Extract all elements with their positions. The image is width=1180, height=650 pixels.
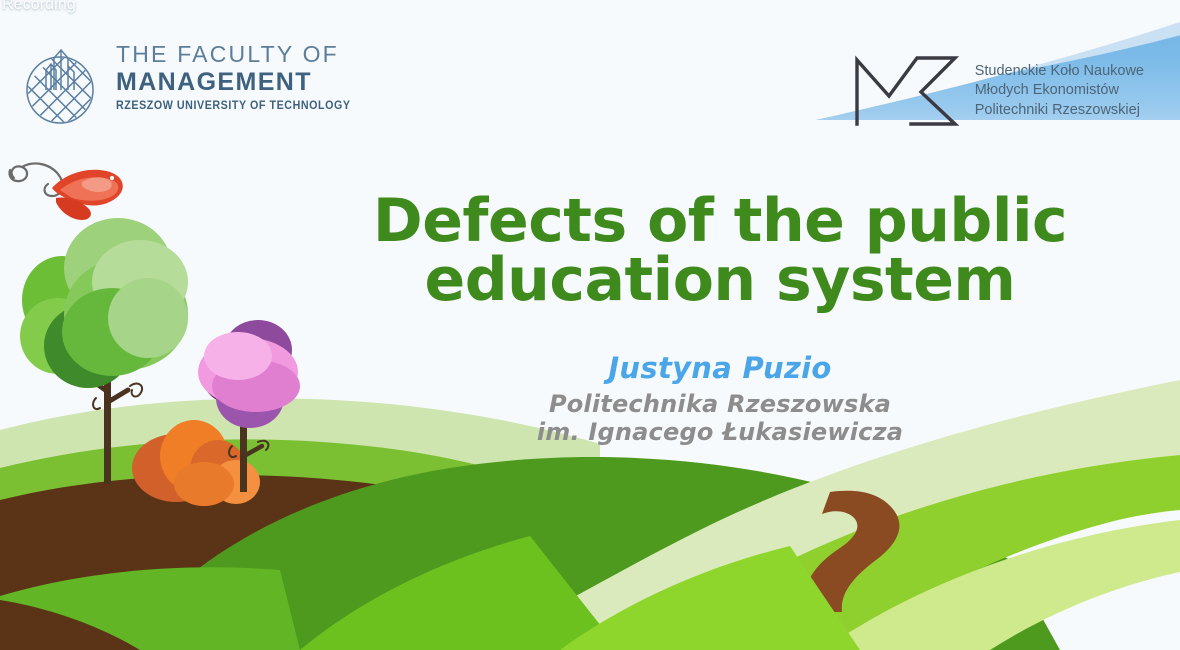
recording-indicator-label: Recording (2, 0, 76, 14)
slide-affiliation-line2: im. Ignacego Łukasiewicza (310, 418, 1130, 446)
m-sigma-monogram-icon (851, 52, 959, 130)
student-club-line3: Politechniki Rzeszowskiej (975, 101, 1144, 120)
faculty-logo-line3: RZESZOW UNIVERSITY OF TECHNOLOGY (116, 101, 351, 113)
faculty-logo-line1: THE FACULTY OF (116, 43, 368, 66)
slide-affiliation-line1: Politechnika Rzeszowska (310, 390, 1130, 418)
faculty-logo-line2: MANAGEMENT (116, 70, 368, 95)
student-club-line1: Studenckie Koło Naukowe (975, 62, 1144, 81)
presentation-slide: Recording THE (0, 0, 1180, 650)
faculty-logo: THE FACULTY OF MANAGEMENT RZESZOW UNIVER… (18, 28, 368, 128)
slide-title-line2: education system (310, 251, 1130, 310)
slide-affiliation: Politechnika Rzeszowska im. Ignacego Łuk… (310, 390, 1130, 447)
flying-bird-icon (52, 170, 123, 220)
slide-author: Justyna Puzio (310, 351, 1130, 385)
rzeszow-faculty-emblem-icon (18, 28, 102, 128)
slide-title: Defects of the public education system (310, 192, 1130, 311)
decorative-swirl-icon (9, 163, 62, 196)
student-club-line2: Młodych Ekonomistów (975, 81, 1144, 100)
student-club-logo: Studenckie Koło Naukowe Młodych Ekonomis… (851, 52, 1144, 130)
